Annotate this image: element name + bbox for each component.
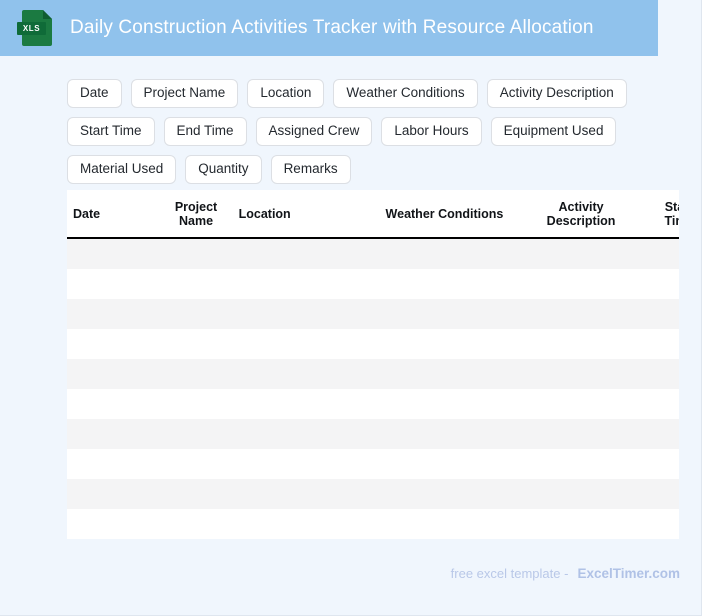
table-cell[interactable] bbox=[517, 419, 646, 449]
table-cell[interactable] bbox=[646, 359, 679, 389]
table-cell[interactable] bbox=[233, 238, 373, 269]
column-tag[interactable]: Activity Description bbox=[487, 79, 627, 108]
header-banner: XLS Daily Construction Activities Tracke… bbox=[0, 0, 658, 56]
xls-file-icon: XLS bbox=[22, 10, 52, 46]
table-cell[interactable] bbox=[646, 329, 679, 359]
column-tag[interactable]: Assigned Crew bbox=[256, 117, 373, 146]
footer-prefix: free excel template - bbox=[451, 566, 569, 581]
page-root: XLS Daily Construction Activities Tracke… bbox=[0, 0, 702, 616]
table-cell[interactable] bbox=[233, 449, 373, 479]
table-cell[interactable] bbox=[646, 389, 679, 419]
table-cell[interactable] bbox=[646, 419, 679, 449]
table-cell[interactable] bbox=[233, 329, 373, 359]
table-column-header: Activity Description bbox=[517, 190, 646, 238]
table-header-row: DateProject NameLocationWeather Conditio… bbox=[67, 190, 679, 238]
table-cell[interactable] bbox=[233, 389, 373, 419]
table-cell[interactable] bbox=[159, 329, 232, 359]
column-tag[interactable]: Remarks bbox=[271, 155, 351, 184]
table-cell[interactable] bbox=[159, 389, 232, 419]
table-cell[interactable] bbox=[159, 359, 232, 389]
column-tag[interactable]: Weather Conditions bbox=[333, 79, 477, 108]
table-header: DateProject NameLocationWeather Conditio… bbox=[67, 190, 679, 238]
table-cell[interactable] bbox=[646, 479, 679, 509]
table-column-header: Start Time bbox=[646, 190, 679, 238]
table-cell[interactable] bbox=[233, 269, 373, 299]
table-cell[interactable] bbox=[517, 389, 646, 419]
table-row[interactable] bbox=[67, 238, 679, 269]
table-cell[interactable] bbox=[233, 479, 373, 509]
table-cell[interactable] bbox=[67, 299, 159, 329]
table-cell[interactable] bbox=[372, 299, 516, 329]
table-cell[interactable] bbox=[67, 479, 159, 509]
data-table: DateProject NameLocationWeather Conditio… bbox=[67, 190, 679, 539]
table-row[interactable] bbox=[67, 419, 679, 449]
xls-icon-label: XLS bbox=[17, 22, 46, 35]
table-row[interactable] bbox=[67, 329, 679, 359]
column-tag[interactable]: Material Used bbox=[67, 155, 176, 184]
table-cell[interactable] bbox=[159, 479, 232, 509]
table-cell[interactable] bbox=[159, 449, 232, 479]
table-cell[interactable] bbox=[646, 299, 679, 329]
table-cell[interactable] bbox=[233, 359, 373, 389]
table-cell[interactable] bbox=[159, 419, 232, 449]
table-cell[interactable] bbox=[159, 269, 232, 299]
table-cell[interactable] bbox=[646, 449, 679, 479]
table-cell[interactable] bbox=[67, 449, 159, 479]
table-cell[interactable] bbox=[372, 269, 516, 299]
table-row[interactable] bbox=[67, 509, 679, 539]
table-cell[interactable] bbox=[372, 359, 516, 389]
table-column-header: Date bbox=[67, 190, 159, 238]
column-tag[interactable]: End Time bbox=[164, 117, 247, 146]
column-tag[interactable]: Equipment Used bbox=[491, 117, 617, 146]
table-cell[interactable] bbox=[159, 509, 232, 539]
column-tag[interactable]: Quantity bbox=[185, 155, 261, 184]
table-cell[interactable] bbox=[159, 299, 232, 329]
table-cell[interactable] bbox=[372, 479, 516, 509]
column-tag[interactable]: Location bbox=[247, 79, 324, 108]
table-row[interactable] bbox=[67, 389, 679, 419]
page-title: Daily Construction Activities Tracker wi… bbox=[70, 17, 594, 39]
table-cell[interactable] bbox=[646, 509, 679, 539]
table-cell[interactable] bbox=[67, 389, 159, 419]
table-cell[interactable] bbox=[159, 238, 232, 269]
table-cell[interactable] bbox=[517, 238, 646, 269]
table-cell[interactable] bbox=[67, 238, 159, 269]
column-tag[interactable]: Labor Hours bbox=[381, 117, 481, 146]
table-column-header: Project Name bbox=[159, 190, 232, 238]
column-tag[interactable]: Date bbox=[67, 79, 122, 108]
table-cell[interactable] bbox=[517, 299, 646, 329]
table-row[interactable] bbox=[67, 299, 679, 329]
table-row[interactable] bbox=[67, 479, 679, 509]
table-cell[interactable] bbox=[67, 419, 159, 449]
table-cell[interactable] bbox=[233, 299, 373, 329]
data-table-container: DateProject NameLocationWeather Conditio… bbox=[67, 190, 679, 539]
table-cell[interactable] bbox=[372, 238, 516, 269]
column-tag[interactable]: Project Name bbox=[131, 79, 239, 108]
table-cell[interactable] bbox=[67, 269, 159, 299]
column-tag[interactable]: Start Time bbox=[67, 117, 155, 146]
table-column-header: Weather Conditions bbox=[372, 190, 516, 238]
table-row[interactable] bbox=[67, 449, 679, 479]
table-body bbox=[67, 238, 679, 539]
table-cell[interactable] bbox=[517, 359, 646, 389]
footer-brand-link[interactable]: ExcelTimer.com bbox=[577, 566, 680, 581]
table-cell[interactable] bbox=[372, 389, 516, 419]
table-row[interactable] bbox=[67, 269, 679, 299]
table-cell[interactable] bbox=[646, 238, 679, 269]
table-cell[interactable] bbox=[517, 449, 646, 479]
table-cell[interactable] bbox=[67, 359, 159, 389]
table-row[interactable] bbox=[67, 359, 679, 389]
table-cell[interactable] bbox=[233, 419, 373, 449]
footer: free excel template - ExcelTimer.com bbox=[451, 566, 680, 581]
table-cell[interactable] bbox=[67, 509, 159, 539]
table-cell[interactable] bbox=[67, 329, 159, 359]
table-cell[interactable] bbox=[517, 269, 646, 299]
column-tag-list: DateProject NameLocationWeather Conditio… bbox=[67, 79, 647, 184]
table-cell[interactable] bbox=[517, 479, 646, 509]
table-cell[interactable] bbox=[372, 329, 516, 359]
table-cell[interactable] bbox=[372, 449, 516, 479]
table-cell[interactable] bbox=[646, 269, 679, 299]
table-column-header: Location bbox=[233, 190, 373, 238]
table-cell[interactable] bbox=[517, 509, 646, 539]
table-cell[interactable] bbox=[372, 509, 516, 539]
table-cell[interactable] bbox=[233, 509, 373, 539]
table-cell[interactable] bbox=[372, 419, 516, 449]
table-cell[interactable] bbox=[517, 329, 646, 359]
